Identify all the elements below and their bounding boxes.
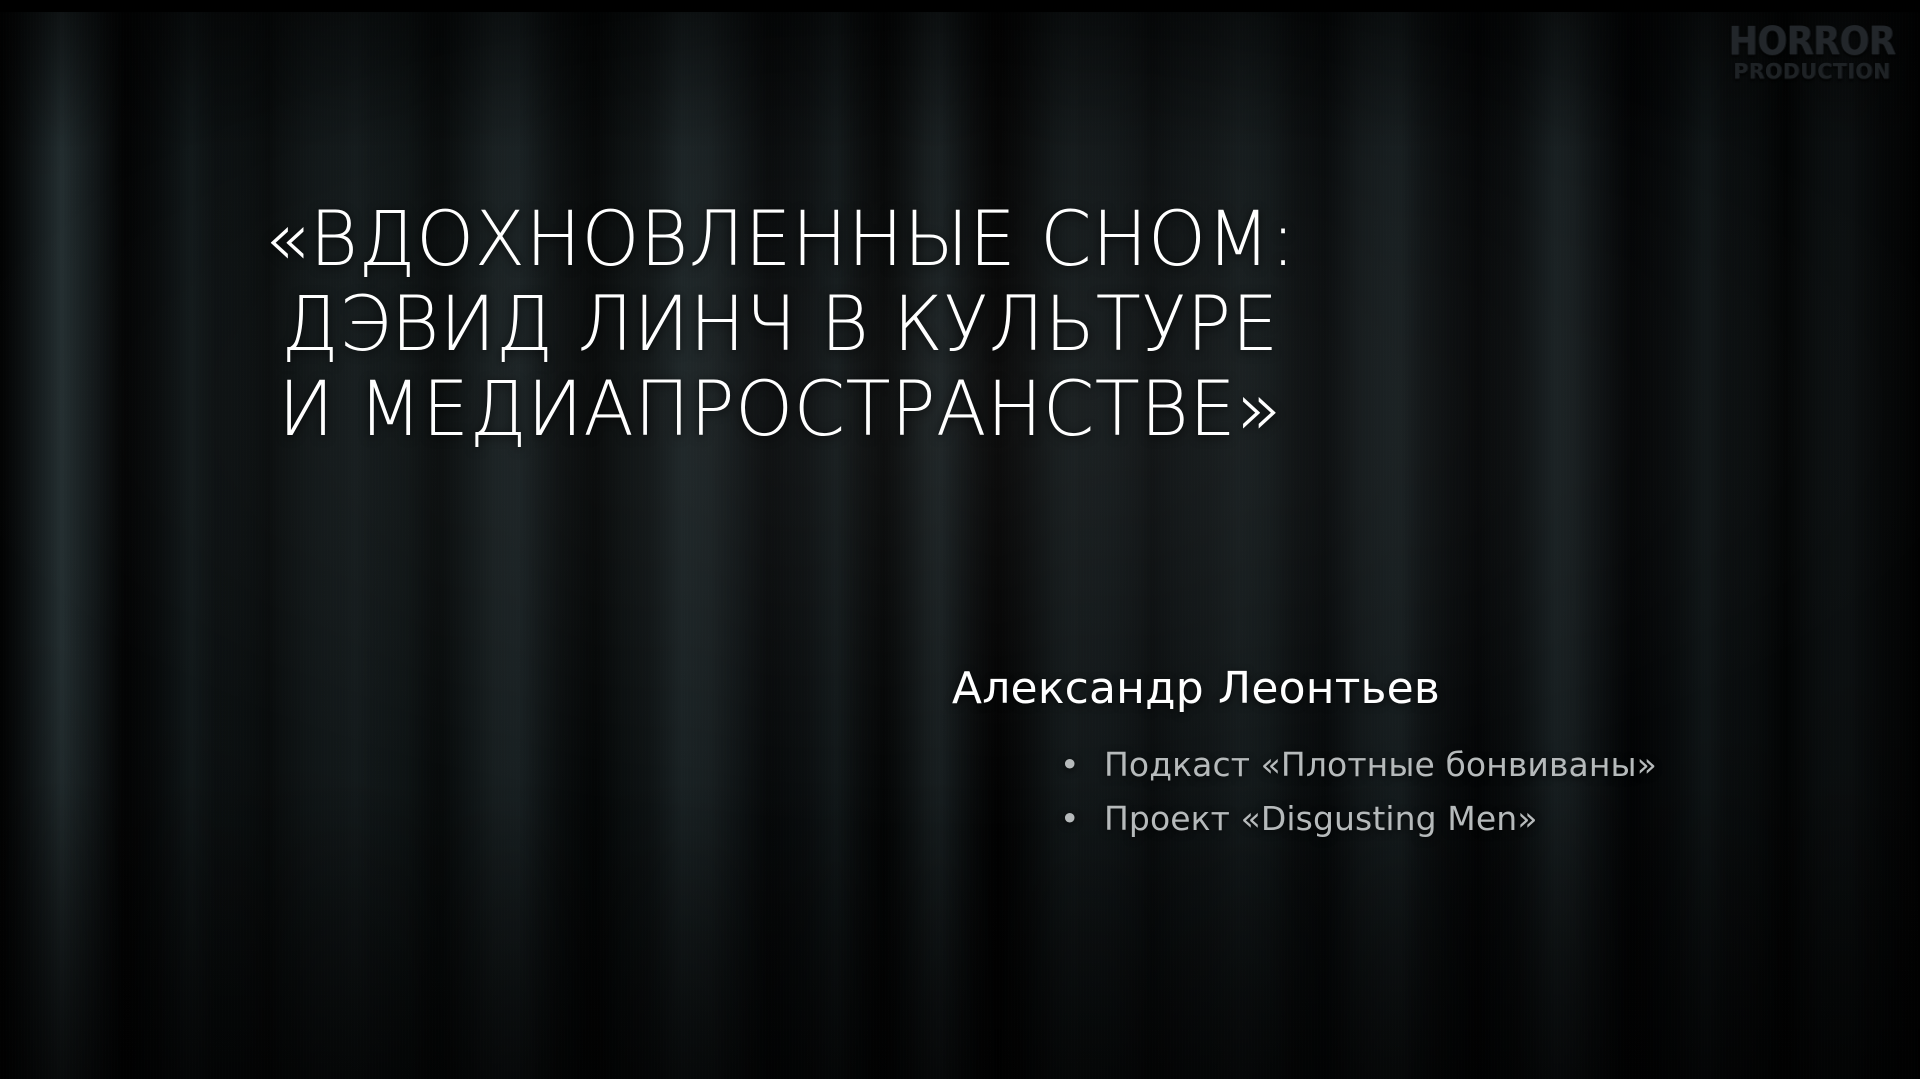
credits-list: • Подкаст «Плотные бонвиваны» • Проект «… bbox=[886, 738, 1506, 846]
credits-item-label: Проект «Disgusting Men» bbox=[1104, 799, 1538, 838]
logo-sub-text: PRODUCTION bbox=[1720, 60, 1904, 82]
list-item: • Подкаст «Плотные бонвиваны» bbox=[1104, 738, 1506, 792]
bullet-icon: • bbox=[1060, 792, 1080, 846]
title-line-3: И МЕДИАПРОСТРАНСТВЕ» bbox=[23, 366, 1536, 451]
speaker-credits: Александр Леонтьев • Подкаст «Плотные бо… bbox=[886, 662, 1506, 846]
letterbox-bar-top bbox=[0, 0, 1920, 12]
presentation-slide: HORROR PRODUCTION «ВДОХНОВЛЕННЫЕ СНОМ: Д… bbox=[0, 0, 1920, 1079]
horror-production-logo: HORROR PRODUCTION bbox=[1722, 26, 1902, 81]
speaker-name: Александр Леонтьев bbox=[886, 662, 1506, 716]
title-line-2: ДЭВИД ЛИНЧ В КУЛЬТУРЕ bbox=[23, 281, 1536, 366]
title-line-1: «ВДОХНОВЛЕННЫЕ СНОМ: bbox=[23, 196, 1536, 281]
curtain-grain-texture bbox=[0, 0, 1920, 1079]
list-item: • Проект «Disgusting Men» bbox=[1104, 792, 1506, 846]
credits-item-label: Подкаст «Плотные бонвиваны» bbox=[1104, 745, 1657, 784]
logo-main-text: HORROR bbox=[1722, 24, 1902, 60]
slide-title: «ВДОХНОВЛЕННЫЕ СНОМ: ДЭВИД ЛИНЧ В КУЛЬТУ… bbox=[0, 196, 1560, 451]
bullet-icon: • bbox=[1060, 738, 1080, 792]
